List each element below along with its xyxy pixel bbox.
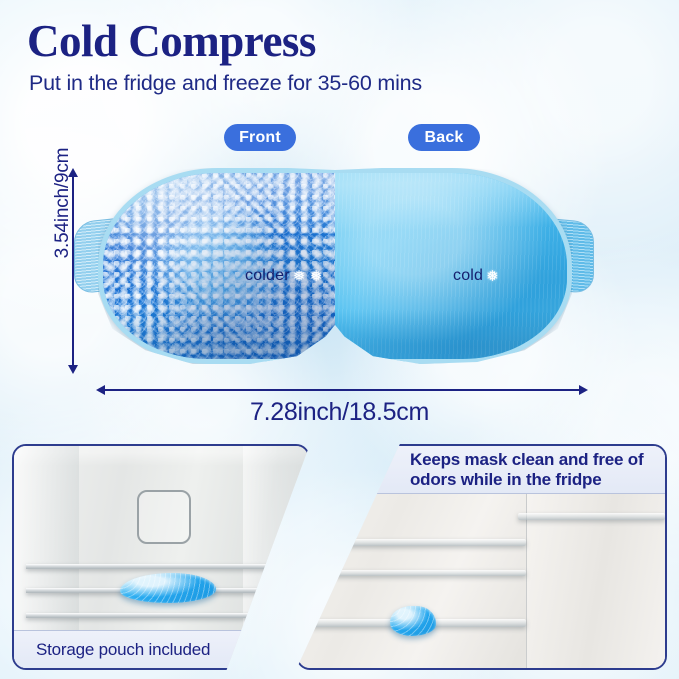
- dimension-label-height: 3.54inch/9cm: [52, 118, 74, 288]
- badge-back: Back: [408, 124, 480, 151]
- fabric-side: [335, 173, 567, 359]
- fridge-shelf-upper: [26, 564, 296, 569]
- caption-odor-free: Keeps mask clean and free of odors while…: [298, 446, 665, 494]
- cold-text: cold: [453, 267, 483, 285]
- colder-text: colder: [245, 267, 290, 285]
- fridge-wall-right: [243, 446, 308, 668]
- snowflake-icon-single: ❅: [486, 269, 499, 284]
- label-cold: cold ❅: [453, 267, 499, 285]
- snowflake-icon-double: ❅ ❅: [293, 269, 323, 284]
- caption-storage-pouch: Storage pouch included: [14, 630, 308, 668]
- product-image-eye-mask: colder ❅ ❅ cold ❅: [74, 168, 594, 368]
- fridge-vent-panel: [137, 490, 191, 544]
- dimension-label-width: 7.28inch/18.5cm: [0, 398, 679, 427]
- panel-odor-free: Keeps mask clean and free of odors while…: [296, 444, 667, 670]
- gel-bead-side: [103, 173, 335, 359]
- page-subtitle: Put in the fridge and freeze for 35-60 m…: [29, 71, 422, 96]
- dimension-arrow-horizontal: [104, 389, 580, 391]
- glass-shelf-middle: [313, 570, 526, 576]
- badge-front: Front: [224, 124, 296, 151]
- gel-mask-on-glass-shelf: [390, 606, 436, 636]
- door-bin-shelf: [518, 513, 665, 520]
- infographic-canvas: Cold Compress Put in the fridge and free…: [0, 0, 679, 679]
- page-title: Cold Compress: [27, 19, 316, 64]
- label-colder: colder ❅ ❅: [245, 267, 323, 285]
- panel-storage-pouch: Storage pouch included: [12, 444, 310, 670]
- gel-mask-on-shelf: [120, 573, 216, 603]
- mask-body: colder ❅ ❅ cold ❅: [98, 168, 572, 364]
- glass-shelf-upper: [313, 539, 526, 546]
- fridge-shelf-lower: [26, 613, 296, 618]
